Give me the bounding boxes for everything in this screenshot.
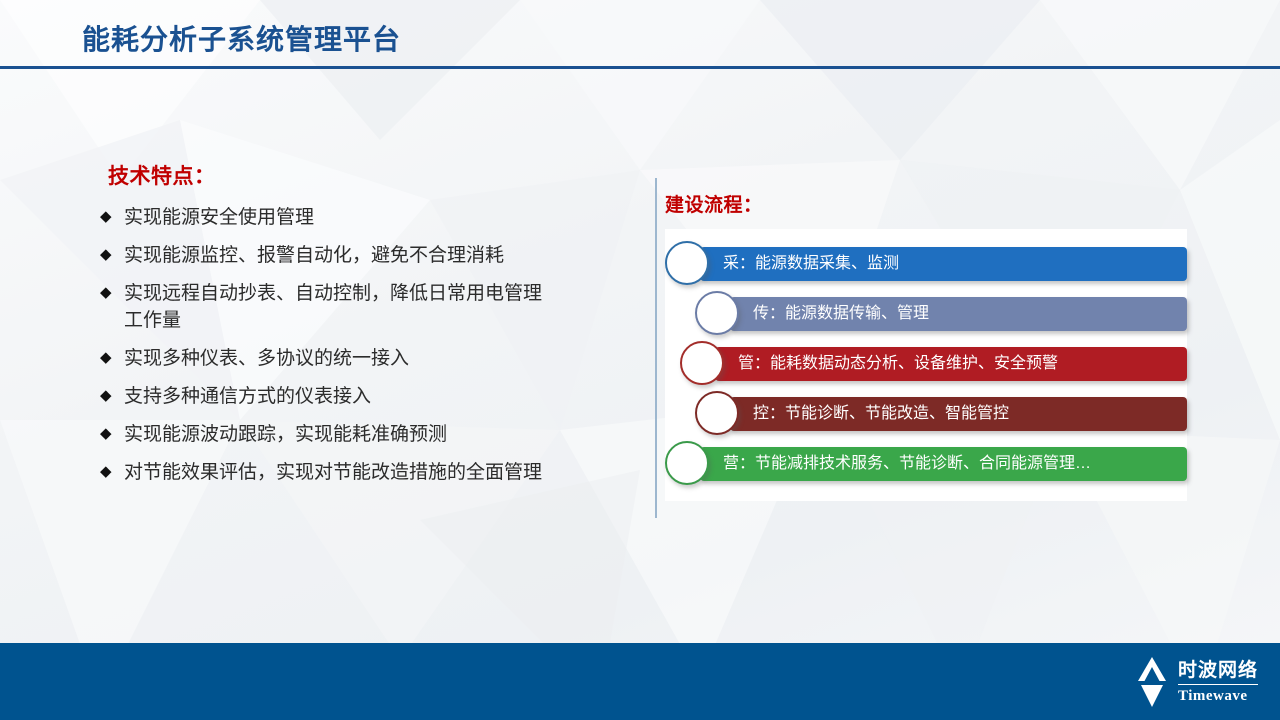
- slide: 能耗分析子系统管理平台 技术特点： ◆实现能源安全使用管理◆实现能源监控、报警自…: [0, 0, 1280, 720]
- flow-step-bar[interactable]: 管：能耗数据动态分析、设备维护、安全预警: [715, 347, 1187, 381]
- list-item: ◆实现能源安全使用管理: [100, 204, 640, 231]
- list-item-label: 支持多种通信方式的仪表接入: [124, 383, 640, 410]
- construction-flow-heading: 建设流程：: [665, 190, 1195, 217]
- flow-step-circle-icon: [680, 341, 724, 385]
- diamond-bullet-icon: ◆: [100, 242, 124, 268]
- page-title: 能耗分析子系统管理平台: [82, 18, 401, 58]
- flow-step[interactable]: 控：节能诊断、节能改造、智能管控: [665, 389, 1187, 439]
- list-item-label: 实现能源波动跟踪，实现能耗准确预测: [124, 421, 640, 448]
- list-item: ◆实现远程自动抄表、自动控制，降低日常用电管理 工作量: [100, 280, 640, 334]
- construction-flow-section: 建设流程： 采：能源数据采集、监测传：能源数据传输、管理管：能耗数据动态分析、设…: [665, 190, 1195, 501]
- logo-text-block: 时波网络 Timewave: [1178, 660, 1258, 705]
- flow-step-circle-icon: [665, 241, 709, 285]
- construction-flow-panel: 采：能源数据采集、监测传：能源数据传输、管理管：能耗数据动态分析、设备维护、安全…: [665, 229, 1187, 501]
- flow-step-circle-icon: [695, 291, 739, 335]
- flow-step-label: 管：能耗数据动态分析、设备维护、安全预警: [738, 347, 1058, 381]
- list-item: ◆实现能源波动跟踪，实现能耗准确预测: [100, 421, 640, 448]
- slide-header: 能耗分析子系统管理平台: [0, 0, 1280, 68]
- flow-step-circle-icon: [665, 441, 709, 485]
- flow-step[interactable]: 采：能源数据采集、监测: [665, 239, 1187, 289]
- list-item: ◆支持多种通信方式的仪表接入: [100, 383, 640, 410]
- diamond-bullet-icon: ◆: [100, 421, 124, 447]
- flow-step-label: 传：能源数据传输、管理: [753, 297, 929, 331]
- wave-logo-icon: [1132, 655, 1172, 709]
- company-logo: 时波网络 Timewave: [1132, 653, 1258, 711]
- technical-features-section: 技术特点： ◆实现能源安全使用管理◆实现能源监控、报警自动化，避免不合理消耗◆实…: [100, 160, 640, 497]
- diamond-bullet-icon: ◆: [100, 204, 124, 230]
- technical-features-heading: 技术特点：: [108, 160, 640, 190]
- flow-step-circle-icon: [695, 391, 739, 435]
- logo-divider: [1178, 684, 1258, 685]
- list-item-label: 实现能源监控、报警自动化，避免不合理消耗: [124, 242, 640, 269]
- technical-features-list: ◆实现能源安全使用管理◆实现能源监控、报警自动化，避免不合理消耗◆实现远程自动抄…: [100, 204, 640, 486]
- flow-step-bar[interactable]: 传：能源数据传输、管理: [730, 297, 1187, 331]
- diamond-bullet-icon: ◆: [100, 345, 124, 371]
- list-item-label: 实现多种仪表、多协议的统一接入: [124, 345, 640, 372]
- flow-step[interactable]: 营：节能减排技术服务、节能诊断、合同能源管理…: [665, 439, 1187, 489]
- flow-step-bar[interactable]: 营：节能减排技术服务、节能诊断、合同能源管理…: [700, 447, 1187, 481]
- flow-step-label: 控：节能诊断、节能改造、智能管控: [753, 397, 1009, 431]
- list-item: ◆实现能源监控、报警自动化，避免不合理消耗: [100, 242, 640, 269]
- list-item-label: 对节能效果评估，实现对节能改造措施的全面管理: [124, 459, 640, 486]
- flow-step-bar[interactable]: 采：能源数据采集、监测: [700, 247, 1187, 281]
- list-item-label: 实现远程自动抄表、自动控制，降低日常用电管理 工作量: [124, 280, 640, 334]
- slide-footer: 时波网络 Timewave: [0, 643, 1280, 720]
- flow-step-label: 营：节能减排技术服务、节能诊断、合同能源管理…: [723, 447, 1091, 481]
- flow-step-label: 采：能源数据采集、监测: [723, 247, 899, 281]
- logo-name-cn: 时波网络: [1178, 660, 1258, 682]
- flow-step[interactable]: 管：能耗数据动态分析、设备维护、安全预警: [665, 339, 1187, 389]
- list-item: ◆实现多种仪表、多协议的统一接入: [100, 345, 640, 372]
- diamond-bullet-icon: ◆: [100, 280, 124, 306]
- list-item: ◆对节能效果评估，实现对节能改造措施的全面管理: [100, 459, 640, 486]
- diamond-bullet-icon: ◆: [100, 459, 124, 485]
- list-item-label: 实现能源安全使用管理: [124, 204, 640, 231]
- diamond-bullet-icon: ◆: [100, 383, 124, 409]
- flow-step[interactable]: 传：能源数据传输、管理: [665, 289, 1187, 339]
- flow-step-bar[interactable]: 控：节能诊断、节能改造、智能管控: [730, 397, 1187, 431]
- logo-name-en: Timewave: [1178, 687, 1258, 705]
- column-divider: [655, 178, 657, 518]
- header-divider: [0, 66, 1280, 69]
